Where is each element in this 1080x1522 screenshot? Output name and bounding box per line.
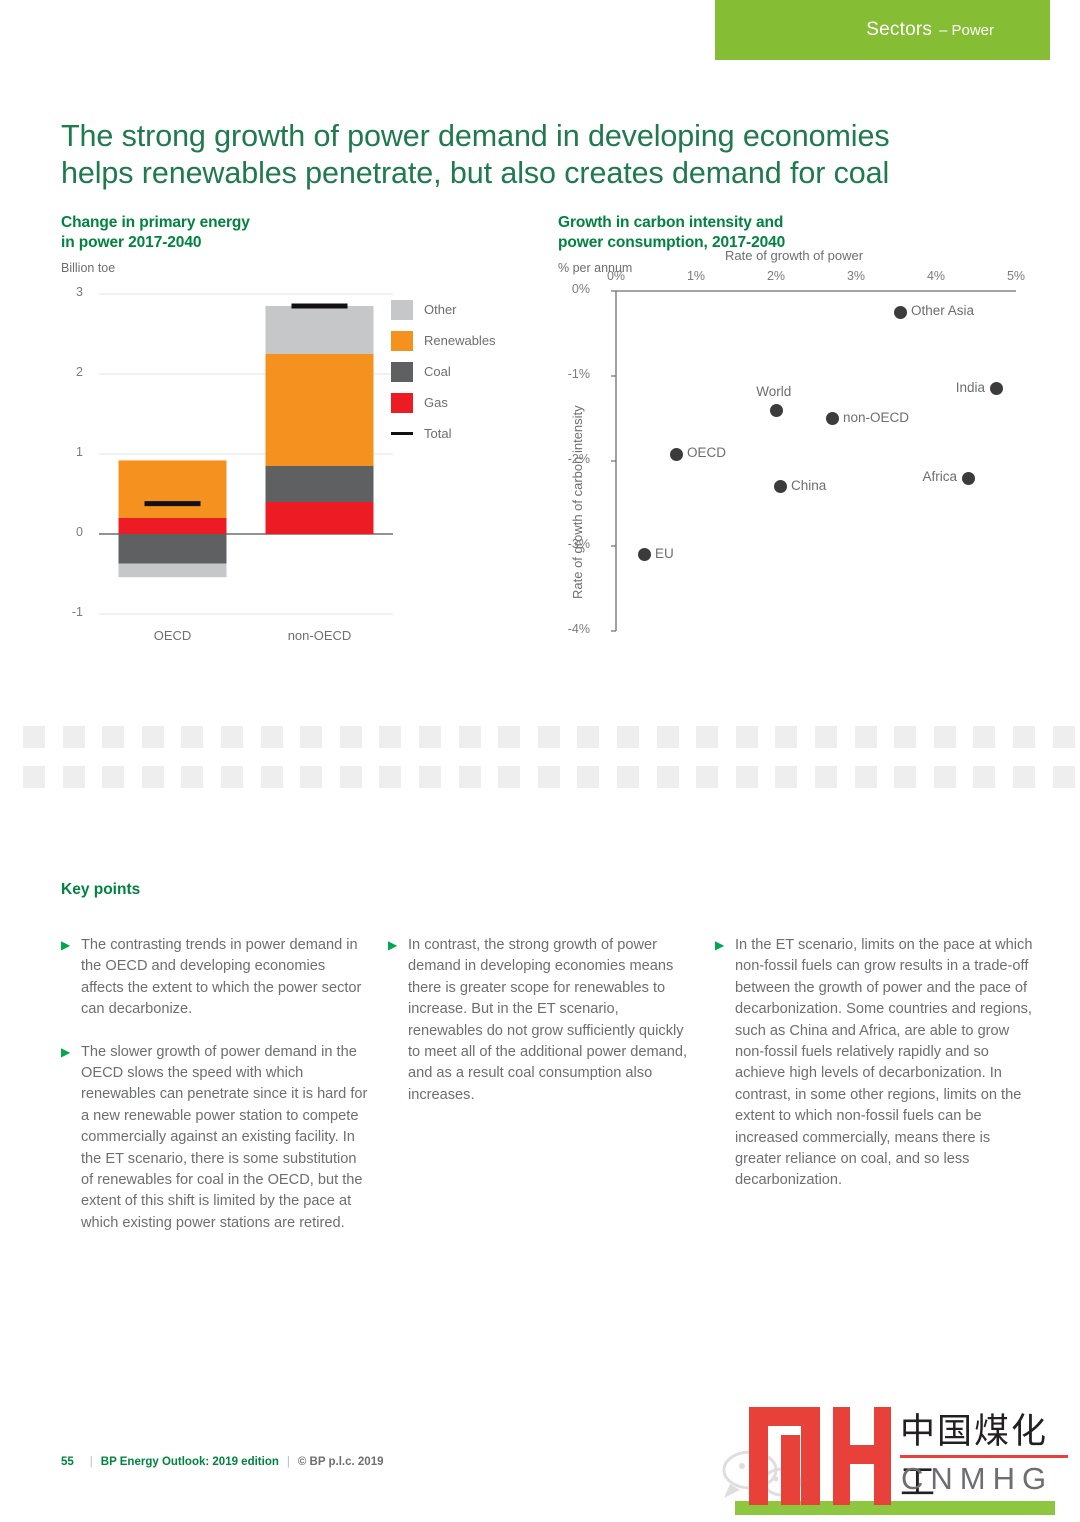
key-point-text: The contrasting trends in power demand i… [81,935,369,1021]
key-point-text: The slower growth of power demand in the… [81,1042,369,1235]
bar-chart-legend-item[interactable]: Gas [391,387,496,418]
bar-chart-legend-label: Coal [424,364,451,379]
decorative-square [538,766,560,788]
decorative-square [934,726,956,748]
decorative-square [736,766,758,788]
bar-chart-x-label: OECD [103,628,243,643]
key-point-item: ▶In contrast, the strong growth of power… [388,935,696,1106]
decorative-square [1013,726,1035,748]
decorative-square [617,766,639,788]
footer-copyright: © BP p.l.c. 2019 [298,1456,384,1468]
scatter-chart-title: Growth in carbon intensity and power con… [558,213,1038,252]
key-points-heading: Key points [61,881,140,899]
bar-chart-y-tick: 0 [57,525,83,539]
decorative-square [221,726,243,748]
decorative-square [23,766,45,788]
decorative-square [498,766,520,788]
bullet-arrow-icon: ▶ [61,935,77,1021]
scatter-data-point[interactable] [670,448,683,461]
decorative-square [142,766,164,788]
scatter-x-tick: 2% [753,269,799,283]
decorative-square [855,726,877,748]
watermark-logo: 中国煤化工 CNMHG [720,1393,1070,1515]
decorative-square [696,766,718,788]
scatter-data-point[interactable] [894,306,907,319]
scatter-y-tick: -2% [550,452,590,466]
decorative-square [934,766,956,788]
decorative-square [221,766,243,788]
scatter-x-tick: 4% [913,269,959,283]
bar-chart-y-tick: 2 [57,365,83,379]
legend-color-swatch [391,300,413,320]
decorative-square [577,726,599,748]
scatter-chart-title-line-1: Growth in carbon intensity and [558,214,783,231]
legend-color-swatch [391,362,413,382]
page-footer: 55 | BP Energy Outlook: 2019 edition | ©… [61,1456,384,1468]
decorative-square [973,766,995,788]
scatter-x-tick: 5% [993,269,1039,283]
scatter-x-axis-title: Rate of growth of power [725,248,863,263]
page-title-line-2: helps renewables penetrate, but also cre… [61,155,991,192]
decorative-square [973,726,995,748]
decorative-square [775,766,797,788]
decorative-square [894,766,916,788]
bar-chart-y-tick: 1 [57,445,83,459]
bar-chart-title-line-2: in power 2017-2040 [61,234,201,251]
decorative-square [300,766,322,788]
bar-chart-unit-label: Billion toe [61,261,521,275]
decorative-square [419,766,441,788]
scatter-point-label: China [791,478,826,493]
decorative-square [379,726,401,748]
bullet-arrow-icon: ▶ [61,1042,77,1235]
page-title: The strong growth of power demand in dev… [61,118,991,192]
scatter-y-tick: -4% [550,622,590,636]
bar-chart-legend-item[interactable]: Other [391,294,496,325]
decorative-square [340,766,362,788]
decorative-square [617,726,639,748]
key-point-item: ▶The slower growth of power demand in th… [61,1042,369,1235]
scatter-x-tick: 0% [593,269,639,283]
bar-chart-y-tick: 3 [57,285,83,299]
bar-chart-title: Change in primary energy in power 2017-2… [61,213,521,252]
decorative-square-band [0,722,1080,792]
scatter-point-label: EU [655,546,674,561]
decorative-square [775,726,797,748]
bar-chart-block: Change in primary energy in power 2017-2… [61,213,521,678]
decorative-square [736,726,758,748]
key-point-item: ▶In the ET scenario, limits on the pace … [715,935,1035,1192]
decorative-square [577,766,599,788]
decorative-square [855,766,877,788]
scatter-x-tick: 3% [833,269,879,283]
bar-chart-legend-item[interactable]: Renewables [391,325,496,356]
bar-chart-x-label: non-OECD [250,628,390,643]
key-point-text: In the ET scenario, limits on the pace a… [735,935,1035,1192]
bar-chart-legend-label: Gas [424,395,448,410]
scatter-y-tick: -3% [550,537,590,551]
scatter-chart-plot-area: Rate of growth of power Rate of growth o… [558,269,1038,669]
decorative-square [459,766,481,788]
scatter-data-point[interactable] [638,548,651,561]
decorative-square [657,726,679,748]
decorative-square [63,766,85,788]
section-name: Sectors [866,19,932,41]
decorative-square [23,726,45,748]
legend-line-marker [391,432,413,435]
decorative-square [181,726,203,748]
decorative-square [300,726,322,748]
scatter-data-point[interactable] [770,404,783,417]
key-point-item: ▶The contrasting trends in power demand … [61,935,369,1021]
bar-chart-legend-item[interactable]: Coal [391,356,496,387]
footer-separator-1: | [90,1456,93,1468]
decorative-square [815,726,837,748]
bar-chart-legend: OtherRenewablesCoalGasTotal [391,294,496,449]
decorative-square [894,726,916,748]
decorative-square [102,726,124,748]
scatter-chart-svg [558,269,1038,669]
bullet-arrow-icon: ▶ [715,935,731,1192]
watermark-red-rule [900,1455,1068,1458]
scatter-point-label: Other Asia [911,303,974,318]
footer-publication-title: BP Energy Outlook: 2019 edition [101,1456,279,1468]
decorative-square [696,726,718,748]
scatter-point-label: non-OECD [843,410,909,425]
scatter-point-label: World [756,384,791,399]
subsection-name: Power [951,22,994,39]
bullet-arrow-icon: ▶ [388,935,404,1106]
decorative-square [102,766,124,788]
bar-chart-legend-label: Renewables [424,333,496,348]
page-title-line-1: The strong growth of power demand in dev… [61,119,889,153]
scatter-y-tick: -1% [550,367,590,381]
bar-chart-plot-area: -10123 OECDnon-OECD OtherRenewablesCoalG… [61,286,521,676]
scatter-y-tick: 0% [550,282,590,296]
decorative-square [1053,726,1075,748]
key-points-column-3: ▶In the ET scenario, limits on the pace … [715,935,1035,1213]
bar-chart-legend-item[interactable]: Total [391,418,496,449]
decorative-square [142,726,164,748]
decorative-square [657,766,679,788]
scatter-data-point[interactable] [826,412,839,425]
decorative-square [1013,766,1035,788]
key-points-column-1: ▶The contrasting trends in power demand … [61,935,369,1255]
decorative-square [419,726,441,748]
scatter-point-label: India [956,380,985,395]
decorative-square [63,726,85,748]
decorative-square [261,726,283,748]
decorative-square [815,766,837,788]
scatter-x-tick: 1% [673,269,719,283]
decorative-square [379,766,401,788]
scatter-data-point[interactable] [990,382,1003,395]
scatter-point-label: OECD [687,445,726,460]
bar-chart-legend-label: Total [424,426,451,441]
scatter-point-label: Africa [922,469,957,484]
footer-page-number: 55 [61,1456,74,1468]
bar-chart-y-tick: -1 [57,605,83,619]
scatter-data-point[interactable] [774,480,787,493]
watermark-abbrev-text: CNMHG [901,1461,1053,1497]
decorative-square [498,726,520,748]
key-point-text: In contrast, the strong growth of power … [408,935,696,1106]
watermark-mh-mark [745,1397,895,1509]
legend-color-swatch [391,393,413,413]
footer-separator-2: | [287,1456,290,1468]
scatter-data-point[interactable] [962,472,975,485]
decorative-square [261,766,283,788]
key-points-column-2: ▶In contrast, the strong growth of power… [388,935,696,1127]
decorative-square [1053,766,1075,788]
decorative-square [538,726,560,748]
section-header-tab: Sectors – Power [715,0,1050,60]
section-dash: – [939,22,947,39]
scatter-chart-block: Growth in carbon intensity and power con… [558,213,1038,678]
legend-color-swatch [391,331,413,351]
decorative-square [340,726,362,748]
decorative-square [181,766,203,788]
bar-chart-title-line-1: Change in primary energy [61,214,250,231]
bar-chart-legend-label: Other [424,302,457,317]
decorative-square [459,726,481,748]
